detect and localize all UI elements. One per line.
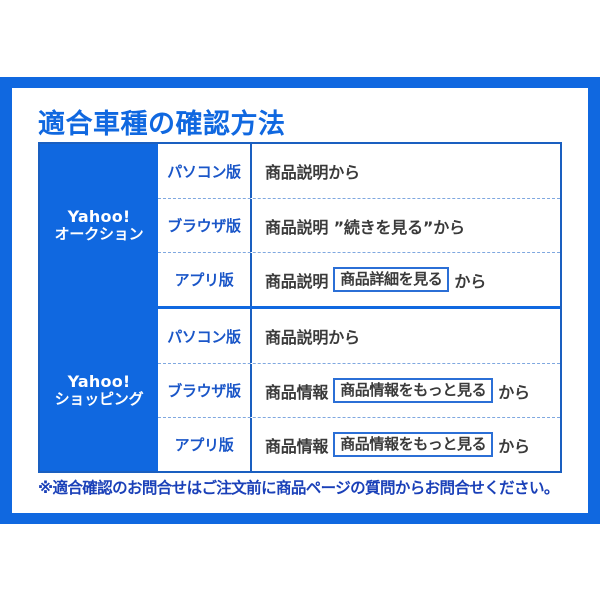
brand-cell: Yahoo!オークション bbox=[40, 144, 158, 306]
instruction-text-before: 商品説明 bbox=[265, 268, 328, 292]
table-row: パソコン版商品説明から bbox=[158, 144, 560, 198]
instruction-text-before: 商品説明から bbox=[265, 159, 360, 183]
page-root: 適合車種の確認方法 Yahoo!オークションパソコン版商品説明からブラウザ版商品… bbox=[0, 0, 600, 600]
table-row: アプリ版商品説明商品詳細を見るから bbox=[158, 252, 560, 306]
instruction-cell: 商品説明商品詳細を見るから bbox=[252, 253, 560, 306]
content-panel: 適合車種の確認方法 Yahoo!オークションパソコン版商品説明からブラウザ版商品… bbox=[12, 88, 588, 513]
table-rows: パソコン版商品説明からブラウザ版商品説明 ”続きを見る”からアプリ版商品説明商品… bbox=[158, 144, 560, 306]
instruction-text-before: 商品情報 bbox=[265, 433, 328, 457]
ui-button-reference[interactable]: 商品情報をもっと見る bbox=[333, 432, 493, 457]
platform-label: パソコン版 bbox=[158, 309, 252, 363]
brand-service: オークション bbox=[55, 226, 144, 243]
platform-label: アプリ版 bbox=[158, 418, 252, 471]
table-group: Yahoo!ショッピングパソコン版商品説明からブラウザ版商品情報商品情報をもっと… bbox=[40, 306, 560, 471]
compatibility-table: Yahoo!オークションパソコン版商品説明からブラウザ版商品説明 ”続きを見る”… bbox=[38, 142, 562, 473]
instruction-cell: 商品説明から bbox=[252, 144, 560, 198]
table-rows: パソコン版商品説明からブラウザ版商品情報商品情報をもっと見るからアプリ版商品情報… bbox=[158, 309, 560, 471]
table-row: パソコン版商品説明から bbox=[158, 309, 560, 363]
brand-cell: Yahoo!ショッピング bbox=[40, 309, 158, 471]
table-group: Yahoo!オークションパソコン版商品説明からブラウザ版商品説明 ”続きを見る”… bbox=[40, 144, 560, 306]
brand-name: Yahoo! bbox=[68, 208, 131, 226]
instruction-text-before: 商品説明から bbox=[265, 324, 360, 348]
instruction-cell: 商品説明から bbox=[252, 309, 560, 363]
platform-label: ブラウザ版 bbox=[158, 199, 252, 252]
page-title: 適合車種の確認方法 bbox=[38, 102, 286, 141]
ui-button-reference[interactable]: 商品情報をもっと見る bbox=[333, 378, 493, 403]
table-row: ブラウザ版商品情報商品情報をもっと見るから bbox=[158, 363, 560, 417]
brand-service: ショッピング bbox=[55, 391, 144, 408]
table-row: アプリ版商品情報商品情報をもっと見るから bbox=[158, 417, 560, 471]
instruction-text-after: から bbox=[454, 268, 486, 292]
instruction-text-after: から bbox=[498, 379, 530, 403]
platform-label: アプリ版 bbox=[158, 253, 252, 306]
ui-button-reference[interactable]: 商品詳細を見る bbox=[333, 267, 449, 292]
instruction-text-after: から bbox=[498, 433, 530, 457]
platform-label: ブラウザ版 bbox=[158, 364, 252, 417]
outer-blue-frame: 適合車種の確認方法 Yahoo!オークションパソコン版商品説明からブラウザ版商品… bbox=[0, 77, 600, 524]
instruction-text-before: 商品情報 bbox=[265, 379, 328, 403]
footer-note: ※適合確認のお問合せはご注文前に商品ページの質問からお問合せください。 bbox=[38, 476, 559, 498]
instruction-cell: 商品説明 ”続きを見る”から bbox=[252, 199, 560, 252]
brand-name: Yahoo! bbox=[68, 373, 131, 391]
instruction-cell: 商品情報商品情報をもっと見るから bbox=[252, 364, 560, 417]
table-row: ブラウザ版商品説明 ”続きを見る”から bbox=[158, 198, 560, 252]
instruction-text-before: 商品説明 ”続きを見る”から bbox=[265, 214, 465, 238]
instruction-cell: 商品情報商品情報をもっと見るから bbox=[252, 418, 560, 471]
platform-label: パソコン版 bbox=[158, 144, 252, 198]
